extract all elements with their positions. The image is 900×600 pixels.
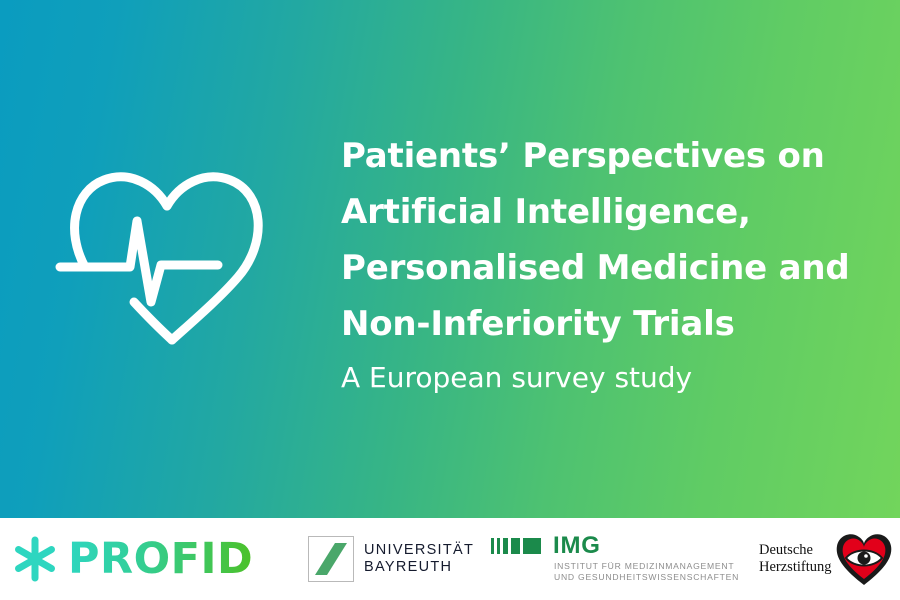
title-line-3: Personalised Medicine and <box>341 240 871 296</box>
heart-ecg-icon <box>52 162 282 354</box>
logo-universitaet-bayreuth: UNIVERSITÄT BAYREUTH <box>300 518 485 600</box>
img-logo-top-row: IMG <box>491 536 753 556</box>
asterisk-icon <box>12 535 58 583</box>
logo-profid: PROFID <box>0 518 300 600</box>
bayreuth-line-2: BAYREUTH <box>364 559 452 575</box>
title-block: Patients’ Perspectives on Artificial Int… <box>341 128 871 402</box>
logo-img: IMG INSTITUT FÜR MEDIZINMANAGEMENT UND G… <box>485 518 753 600</box>
presentation-slide: Patients’ Perspectives on Artificial Int… <box>0 0 900 600</box>
subtitle: A European survey study <box>341 354 871 402</box>
herzstiftung-line-1: Deutsche <box>759 542 813 558</box>
img-subtitle-line-1: INSTITUT FÜR MEDIZINMANAGEMENT <box>554 561 753 572</box>
bayreuth-diagonal-mark <box>308 536 354 582</box>
logo-deutsche-herzstiftung: Deutsche Herzstiftung <box>753 518 900 600</box>
hero-gradient-background: Patients’ Perspectives on Artificial Int… <box>0 0 900 518</box>
title-line-4: Non-Inferiority Trials <box>341 296 871 352</box>
herzstiftung-line-2: Herzstiftung <box>759 559 831 575</box>
img-subtitle-line-2: UND GESUNDHEITSWISSENSCHAFTEN <box>554 572 753 583</box>
img-bars-icon <box>491 538 541 554</box>
title-line-1: Patients’ Perspectives on <box>341 128 871 184</box>
bayreuth-wordmark: UNIVERSITÄT BAYREUTH <box>364 542 474 576</box>
footer-logo-strip: PROFID UNIVERSITÄT BAYREUTH IMG <box>0 518 900 600</box>
img-subtitle-block: INSTITUT FÜR MEDIZINMANAGEMENT UND GESUN… <box>491 561 753 583</box>
img-wordmark: IMG <box>553 536 601 556</box>
title-line-2: Artificial Intelligence, <box>341 184 871 240</box>
herzstiftung-wordmark: Deutsche Herzstiftung <box>759 542 831 576</box>
profid-wordmark: PROFID <box>68 538 253 581</box>
bayreuth-line-1: UNIVERSITÄT <box>364 542 474 558</box>
heart-eye-icon <box>833 529 895 589</box>
